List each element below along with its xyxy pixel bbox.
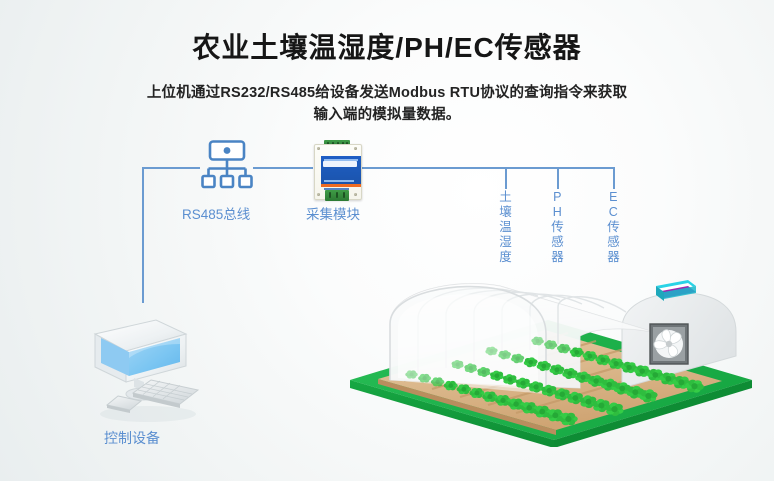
sensor-label-soil: 土壤温湿度 (498, 190, 513, 265)
connector-drop-soil (505, 167, 507, 189)
connector-line-left (142, 167, 200, 169)
desktop-computer-icon (88, 318, 210, 428)
sensor-label-ph: PH传感器 (550, 190, 565, 265)
connector-line-mid (253, 167, 313, 169)
greenhouse-tunnel-illustration (340, 262, 760, 447)
acquisition-module-device (311, 140, 363, 202)
connector-drop-controller (142, 167, 144, 303)
subtitle-line-1: 上位机通过RS232/RS485给设备发送Modbus RTU协议的查询指令来获… (147, 85, 627, 101)
greenhouse-svg (340, 262, 760, 447)
ventilation-fan-icon (650, 324, 688, 364)
connector-drop-ph (557, 167, 559, 189)
connector-drop-ec (613, 167, 615, 189)
page-subtitle: 上位机通过RS232/RS485给设备发送Modbus RTU协议的查询指令来获… (87, 82, 687, 126)
module-label: 采集模块 (306, 203, 360, 223)
module-orange-stripe (321, 184, 361, 187)
desktop-computer-svg (88, 318, 210, 428)
connector-line-right (362, 167, 615, 169)
network-hierarchy-svg (199, 140, 255, 190)
module-terminal-bottom (325, 190, 349, 201)
module-label-strip (323, 161, 357, 167)
scene-description: greenhouse-tunnel-illustration (0, 0, 1, 1)
bus-label: RS485总线 (182, 203, 250, 223)
controller-label: 控制设备 (104, 428, 160, 448)
network-hierarchy-icon (199, 140, 255, 190)
subtitle-line-2: 输入端的模拟量数据。 (314, 107, 461, 123)
illustration-canvas: 农业土壤温湿度/PH/EC传感器 上位机通过RS232/RS485给设备发送Mo… (0, 0, 774, 481)
sensor-label-ec: EC传感器 (606, 190, 621, 265)
page-title: 农业土壤温湿度/PH/EC传感器 (0, 26, 774, 66)
